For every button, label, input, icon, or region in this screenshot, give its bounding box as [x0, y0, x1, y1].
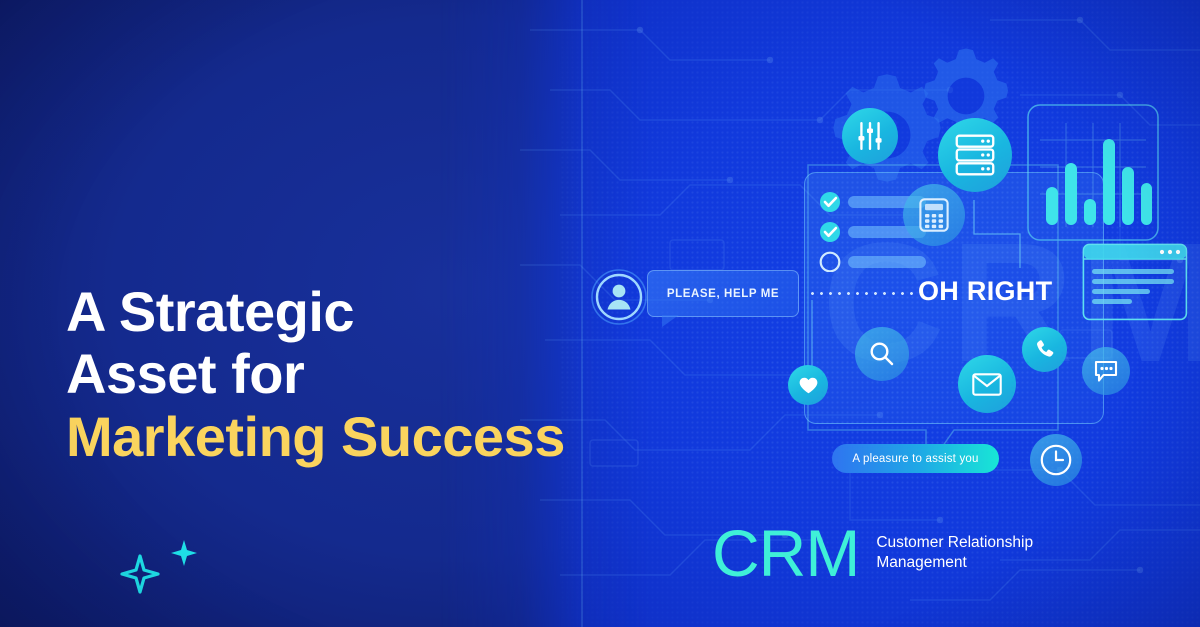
crm-marketing-banner: CRM A Strategic Asset for Marketing Succ… — [0, 0, 1200, 627]
crm-logo-lockup: CRM Customer Relationship Management — [712, 520, 1033, 586]
closing-message-pill: A pleasure to assist you — [832, 444, 999, 473]
calculator-icon — [903, 184, 965, 246]
heart-icon — [788, 365, 828, 405]
chat-icon — [1082, 347, 1130, 395]
agent-reply-text: OH RIGHT — [918, 276, 1052, 307]
user-message-text: PLEASE, HELP ME — [667, 288, 779, 300]
user-message-bubble: PLEASE, HELP ME — [647, 270, 799, 317]
search-icon — [855, 327, 909, 381]
closing-message-text: A pleasure to assist you — [852, 453, 978, 465]
envelope-icon — [958, 355, 1016, 413]
sparkle-decoration — [110, 536, 220, 606]
phone-icon — [1022, 327, 1067, 372]
browser-window — [1082, 243, 1188, 321]
bar-chart-panel — [1028, 105, 1158, 240]
crm-logo-mark: CRM — [712, 520, 859, 586]
crm-logo-subtitle: Customer Relationship Management — [876, 533, 1033, 574]
clock-icon — [1030, 434, 1082, 486]
server-icon — [938, 118, 1012, 192]
crm-logo-subtitle-line-1: Customer Relationship — [876, 533, 1033, 553]
user-avatar-icon — [590, 268, 648, 326]
dotted-connector — [808, 292, 916, 295]
crm-logo-subtitle-line-2: Management — [876, 553, 1033, 573]
sliders-icon — [842, 108, 898, 164]
